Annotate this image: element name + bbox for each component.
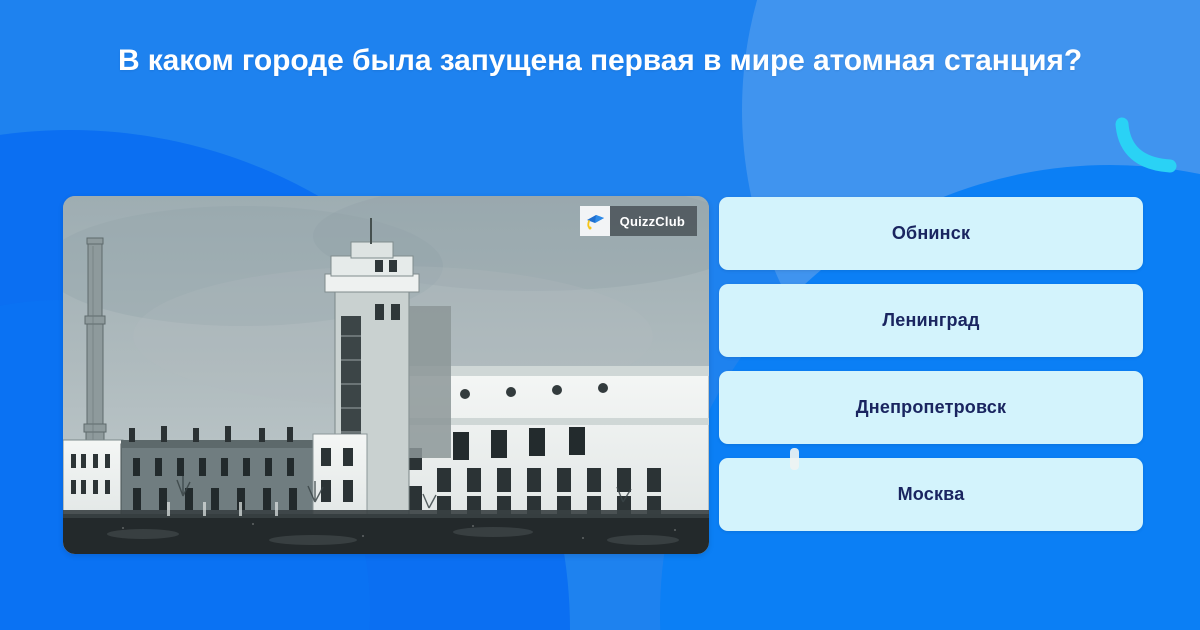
page-title: В каком городе была запущена первая в ми… <box>100 40 1100 83</box>
check-swoosh-icon <box>1112 116 1182 178</box>
quiz-card: В каком городе была запущена первая в ми… <box>0 0 1200 630</box>
question-header: В каком городе была запущена первая в ми… <box>0 40 1200 83</box>
answer-option-3[interactable]: Днепропетровск <box>719 371 1143 444</box>
watermark-brand: QuizzClub <box>610 206 697 236</box>
text-cursor-marker <box>790 448 799 470</box>
power-plant-photo <box>63 196 709 554</box>
question-image: QuizzClub <box>63 196 709 554</box>
answer-option-1[interactable]: Обнинск <box>719 197 1143 270</box>
watermark: QuizzClub <box>580 206 697 236</box>
answer-options-list: Обнинск Ленинград Днепропетровск Москва <box>719 197 1143 531</box>
graduation-cap-icon <box>580 206 610 236</box>
answer-option-2[interactable]: Ленинград <box>719 284 1143 357</box>
answer-option-4[interactable]: Москва <box>719 458 1143 531</box>
